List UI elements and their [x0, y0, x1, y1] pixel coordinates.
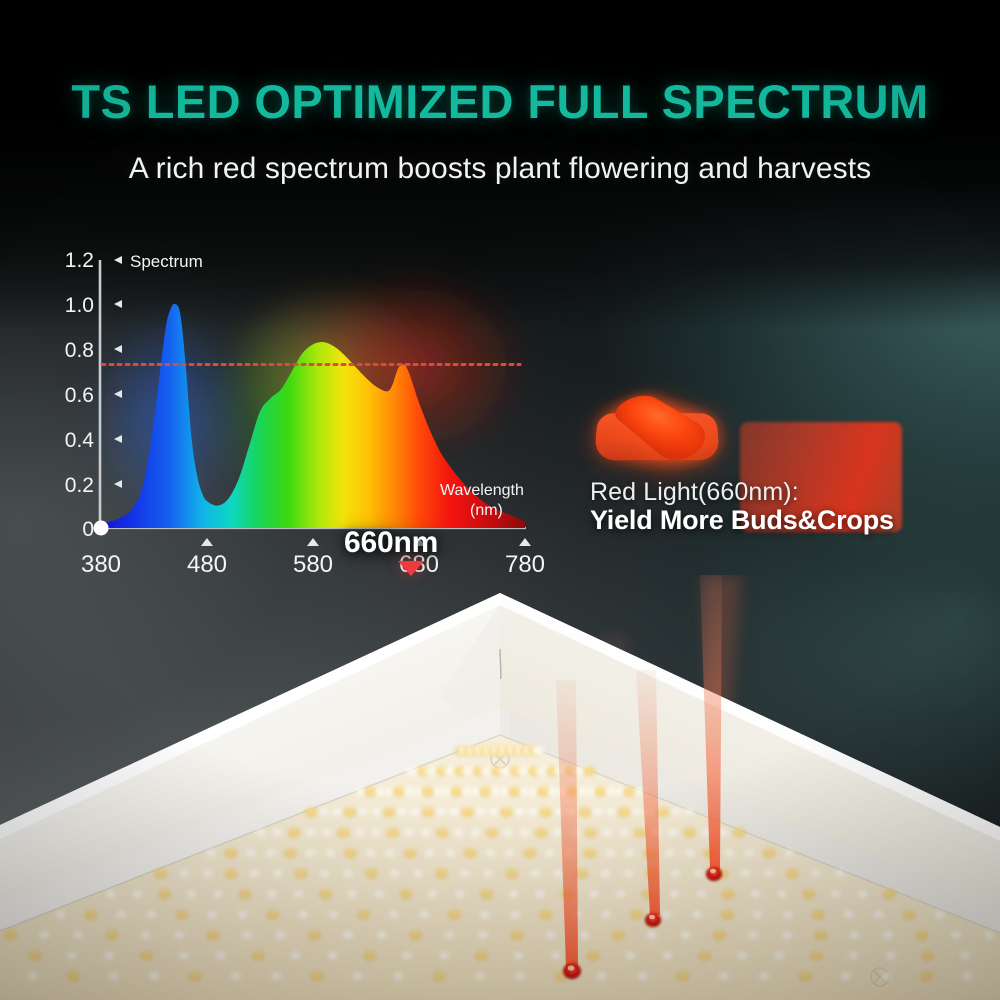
promo-banner: TS LED OPTIMIZED FULL SPECTRUM A rich re…	[0, 0, 1000, 1000]
vignette-overlay	[0, 0, 1000, 1000]
